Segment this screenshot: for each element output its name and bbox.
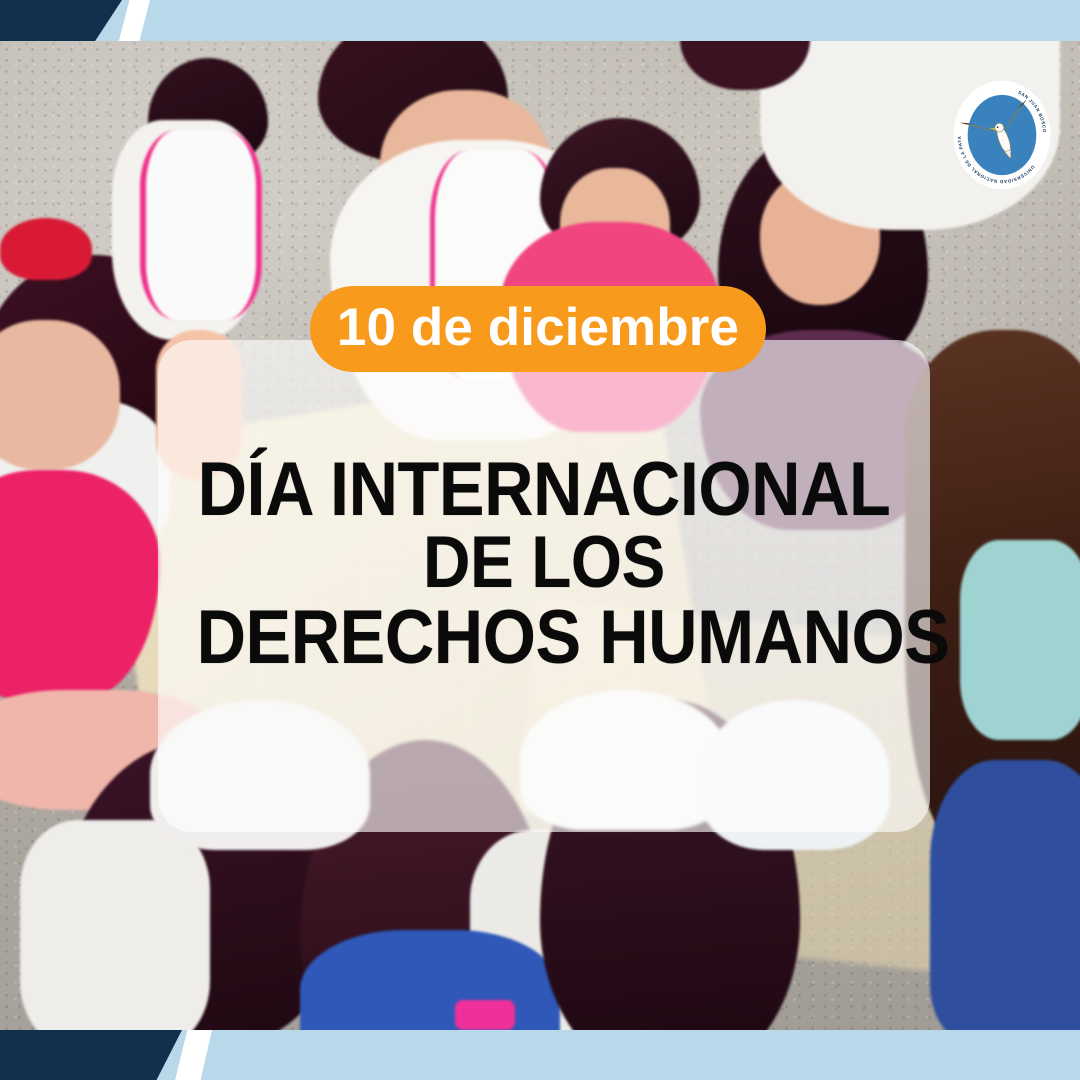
title-line-2: DE LOS [197,527,892,599]
floor-object [455,1000,515,1030]
commemoration-title: DÍA INTERNACIONAL DE LOS DERECHOS HUMANO… [197,452,892,675]
child-figure [0,218,92,280]
poster-canvas: 10 de diciembre DÍA INTERNACIONAL DE LOS… [0,0,1080,1080]
title-line-1: DÍA INTERNACIONAL [197,452,892,527]
bottom-bar-navy [0,1030,182,1080]
date-badge-label: 10 de diciembre [337,301,739,354]
top-bar-light-blue [0,0,1080,41]
child-figure [930,760,1080,1040]
bottom-accent-bar [0,1030,1080,1080]
child-figure [960,540,1080,740]
unpsjb-seal: UNIVERSIDAD NACIONAL DE LA PATAGONIA SAN… [953,80,1051,190]
top-accent-bar [0,0,1080,41]
title-line-3: DERECHOS HUMANOS [197,600,892,675]
child-figure [20,820,210,1050]
child-figure [140,130,262,320]
date-badge: 10 de diciembre [310,286,766,372]
